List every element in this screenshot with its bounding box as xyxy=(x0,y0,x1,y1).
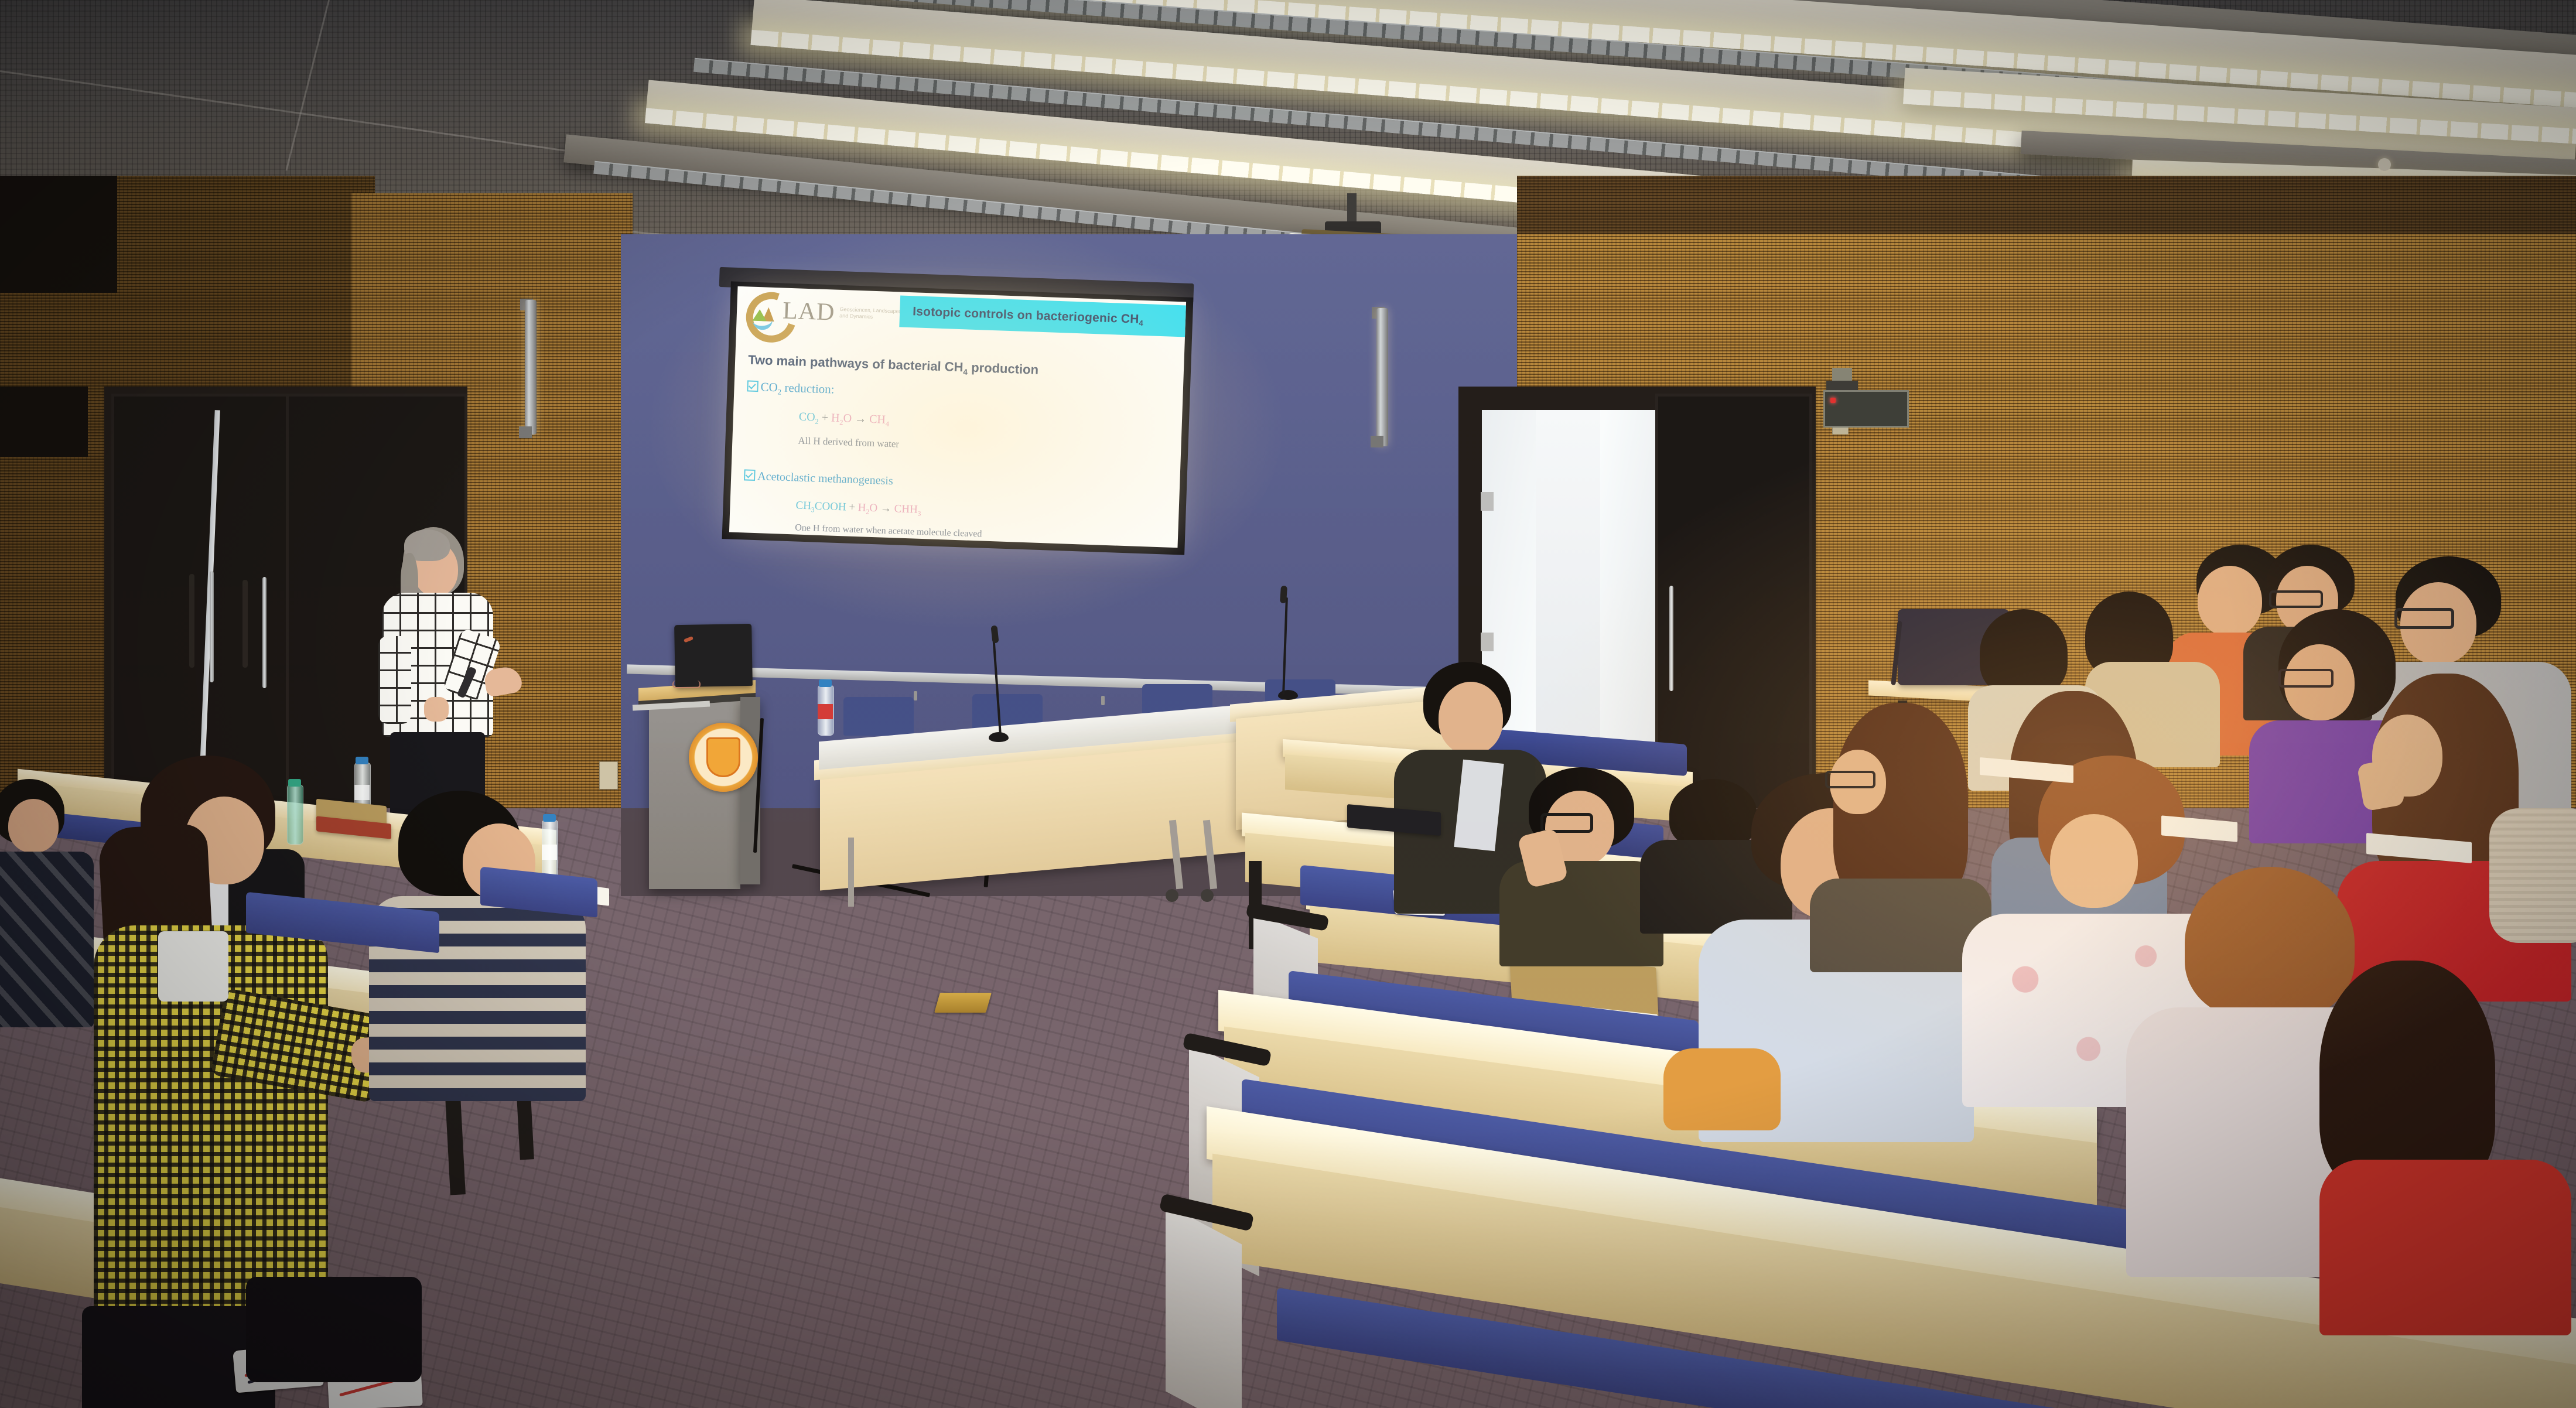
sconce-right xyxy=(1376,308,1388,446)
presenter-hand-left xyxy=(424,697,449,722)
checkbox-icon xyxy=(744,469,756,481)
rail-hook xyxy=(914,691,917,700)
panel-chair[interactable] xyxy=(843,697,914,736)
slide-title-text: Isotopic controls on bacteriogenic CH xyxy=(913,305,1139,326)
ceiling-smoke-detector xyxy=(2378,158,2391,171)
bullet-1-label-rest: reduction: xyxy=(781,380,835,396)
slide-heading-part2: production xyxy=(968,360,1039,377)
sconce-right-arm-lower xyxy=(1371,436,1383,447)
slide-note-1: All H derived from water xyxy=(798,435,899,450)
laptop[interactable] xyxy=(674,624,753,687)
glad-logo-mark xyxy=(746,291,783,329)
attendee-knit-sleeve xyxy=(2489,808,2576,943)
bullet-1-label: CO xyxy=(760,380,778,394)
presenter xyxy=(375,527,527,832)
wall-right-soffit xyxy=(1517,176,2576,234)
university-seal xyxy=(689,723,758,792)
attendee-hair xyxy=(1980,609,2068,697)
bottle-cap xyxy=(543,814,556,822)
speaker-bracket-arm xyxy=(1826,381,1858,390)
door-left-handle-a[interactable] xyxy=(210,571,214,682)
bottle-cap xyxy=(819,679,832,687)
rail-hook xyxy=(1101,696,1105,705)
microphone-capsule xyxy=(1280,586,1287,604)
table-caster xyxy=(1166,889,1178,902)
sconce-left xyxy=(525,300,537,435)
panel-table-leg xyxy=(848,838,854,907)
eyeglasses-on-lectern xyxy=(672,681,701,688)
slide-equation-2: CH3COOH + H2O → CHH3 xyxy=(795,499,921,518)
wall-speaker xyxy=(1823,390,1909,428)
bullet-2-label: Acetoclastic methanogenesis xyxy=(757,470,893,487)
microphone-base xyxy=(1278,690,1298,700)
door-left-handle-b[interactable] xyxy=(262,577,267,688)
door-right-hinge xyxy=(1481,633,1494,651)
slide-title-banner: Isotopic controls on bacteriogenic CH4 xyxy=(899,295,1186,337)
slide-heading: Two main pathways of bacterial CH4 produ… xyxy=(748,352,1039,379)
slide-bullet-2: Acetoclastic methanogenesis xyxy=(744,469,893,488)
door-left-handle-dark[interactable] xyxy=(189,574,194,668)
wall-socket-plate[interactable] xyxy=(599,761,618,790)
attendee-orange-headscarf xyxy=(1663,1048,1781,1130)
student-collar xyxy=(158,931,228,1002)
wall-left-upper-dark xyxy=(0,387,88,457)
slide-bullet-1: CO2 reduction: xyxy=(747,379,835,398)
door-right-hinge xyxy=(1481,492,1494,511)
attendee-hand-on-chin xyxy=(2357,758,2406,812)
projector-rod xyxy=(1347,193,1357,224)
attendee-top xyxy=(2319,1160,2571,1335)
sconce-left-arm-lower xyxy=(519,426,532,438)
attendee-head xyxy=(1439,682,1503,754)
seal-shield xyxy=(706,737,740,777)
slide-heading-part1: Two main pathways of bacterial CH xyxy=(748,352,964,374)
lecture-hall-photo: EPSON xyxy=(0,0,2576,1408)
door-left-handle-dark-b[interactable] xyxy=(242,580,248,668)
speaker-power-led xyxy=(1830,398,1836,403)
table-caster xyxy=(1201,889,1214,902)
eyeglasses xyxy=(1825,771,1875,788)
attendee-dark-corner xyxy=(2319,961,2576,1335)
eyeglasses xyxy=(2269,590,2323,608)
student-leg xyxy=(246,1277,422,1382)
laptop-brand-logo xyxy=(684,636,693,643)
slide-title-subscript: 4 xyxy=(1139,319,1143,327)
door-right-handle[interactable] xyxy=(1669,586,1673,691)
slide-logo: LAD Geosciences, Landscapes and Dynamics xyxy=(746,291,910,333)
floor-service-box xyxy=(934,993,992,1013)
wall-left-soffit xyxy=(0,176,117,293)
bottle-label xyxy=(818,704,833,719)
slide-surface: LAD Geosciences, Landscapes and Dynamics… xyxy=(729,286,1186,548)
slide-equation-1: CO2 + H2O → CH4 xyxy=(798,411,889,429)
checkbox-icon xyxy=(747,380,759,392)
bottle-label xyxy=(542,845,557,860)
presenter-arm-left xyxy=(378,636,411,724)
